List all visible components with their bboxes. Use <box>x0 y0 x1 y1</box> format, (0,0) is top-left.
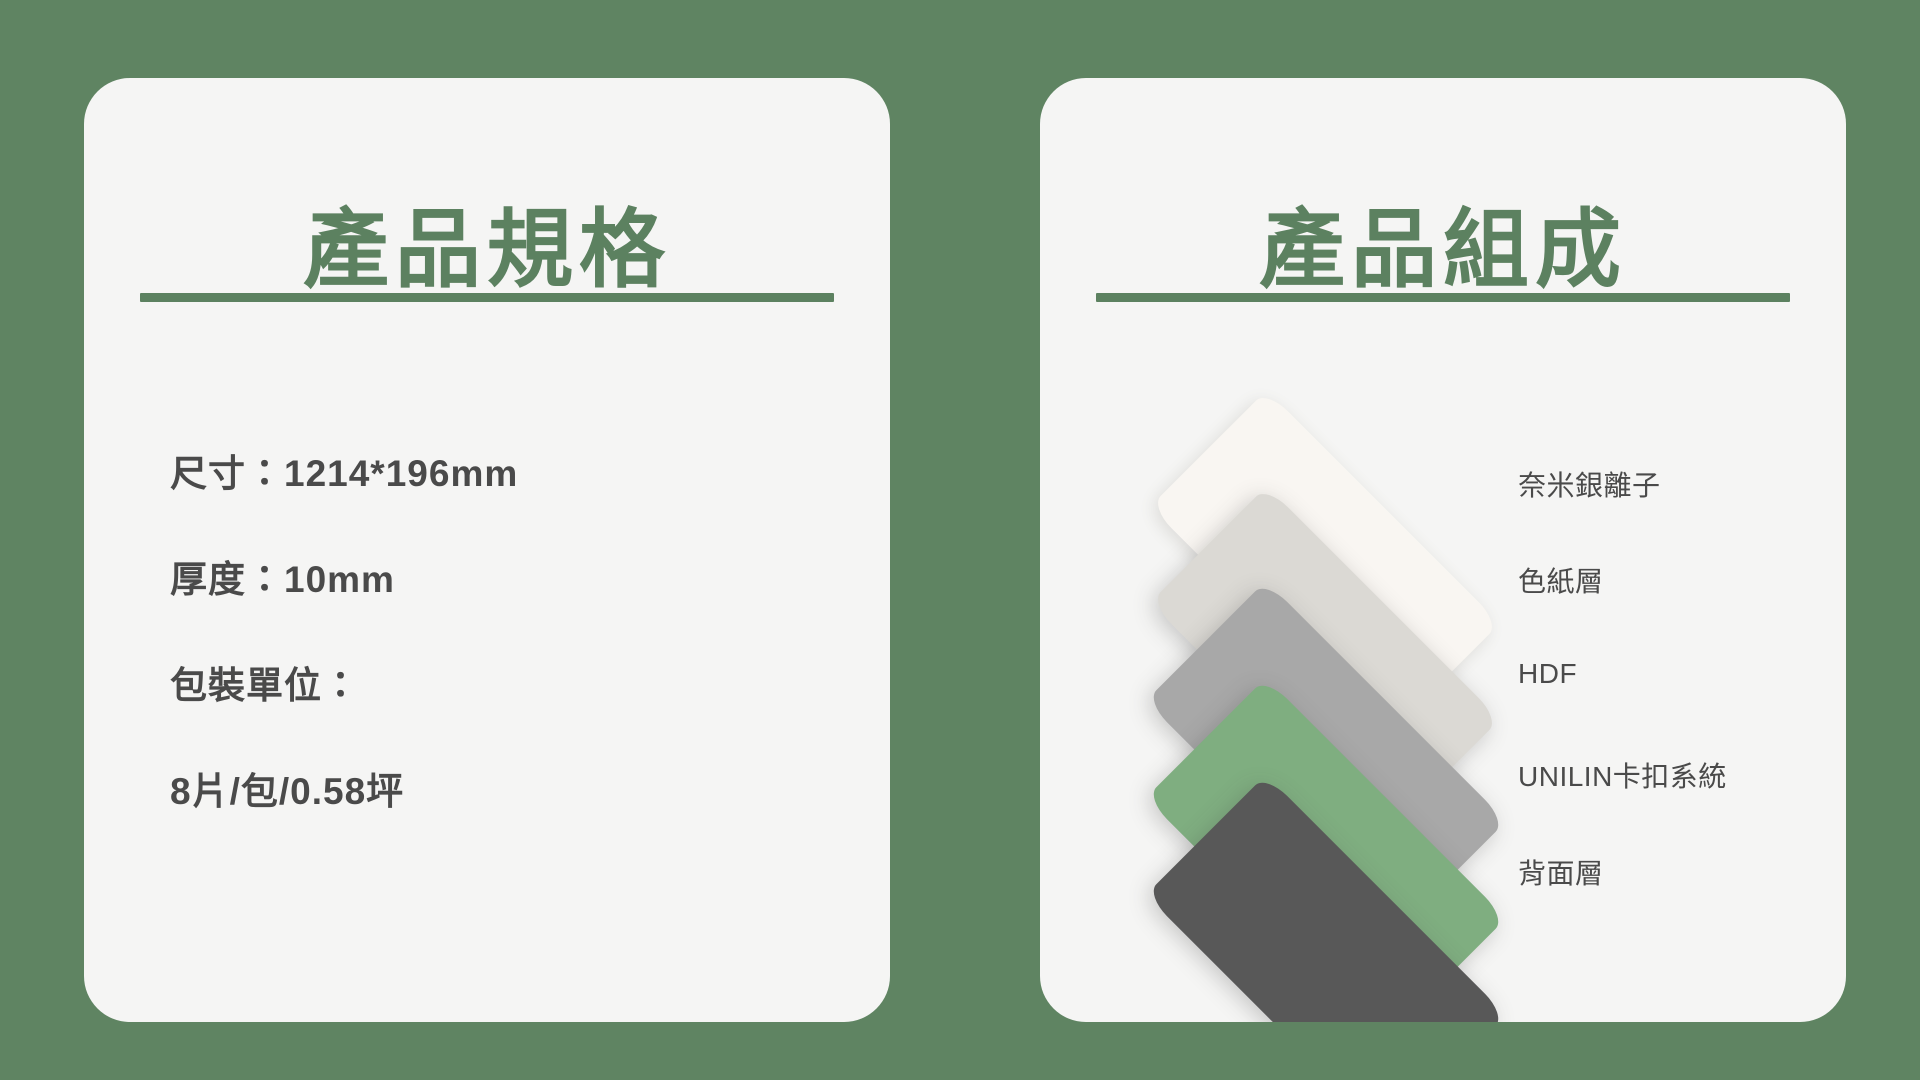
spec-item-size: 尺寸：1214*196mm <box>170 450 850 498</box>
layer-label-hdf: HDF <box>1518 658 1577 690</box>
spec-item-packaging-label: 包裝單位： <box>170 662 850 710</box>
product-composition-card: 產品組成 奈米銀離子色紙層HDFUNILIN卡扣系統背面層 <box>1040 78 1846 1022</box>
spec-item-thickness: 厚度：10mm <box>170 556 850 604</box>
page-title-product-spec: 產品規格 <box>84 201 890 300</box>
spec-list: 尺寸：1214*196mm 厚度：10mm 包裝單位： 8片/包/0.58坪 <box>170 450 850 816</box>
exploded-layer-diagram: 奈米銀離子色紙層HDFUNILIN卡扣系統背面層 <box>1040 78 1846 1022</box>
product-spec-card: 產品規格 尺寸：1214*196mm 厚度：10mm 包裝單位： 8片/包/0.… <box>84 78 890 1022</box>
layer-label-奈米銀離子: 奈米銀離子 <box>1518 464 1661 504</box>
layer-label-色紙層: 色紙層 <box>1518 560 1604 600</box>
layer-label-unilin卡扣系統: UNILIN卡扣系統 <box>1518 755 1727 795</box>
title-divider-left <box>140 293 834 302</box>
layer-label-背面層: 背面層 <box>1518 852 1604 892</box>
slide-canvas: 產品規格 尺寸：1214*196mm 厚度：10mm 包裝單位： 8片/包/0.… <box>0 0 1920 1080</box>
spec-item-packaging-value: 8片/包/0.58坪 <box>170 768 850 816</box>
